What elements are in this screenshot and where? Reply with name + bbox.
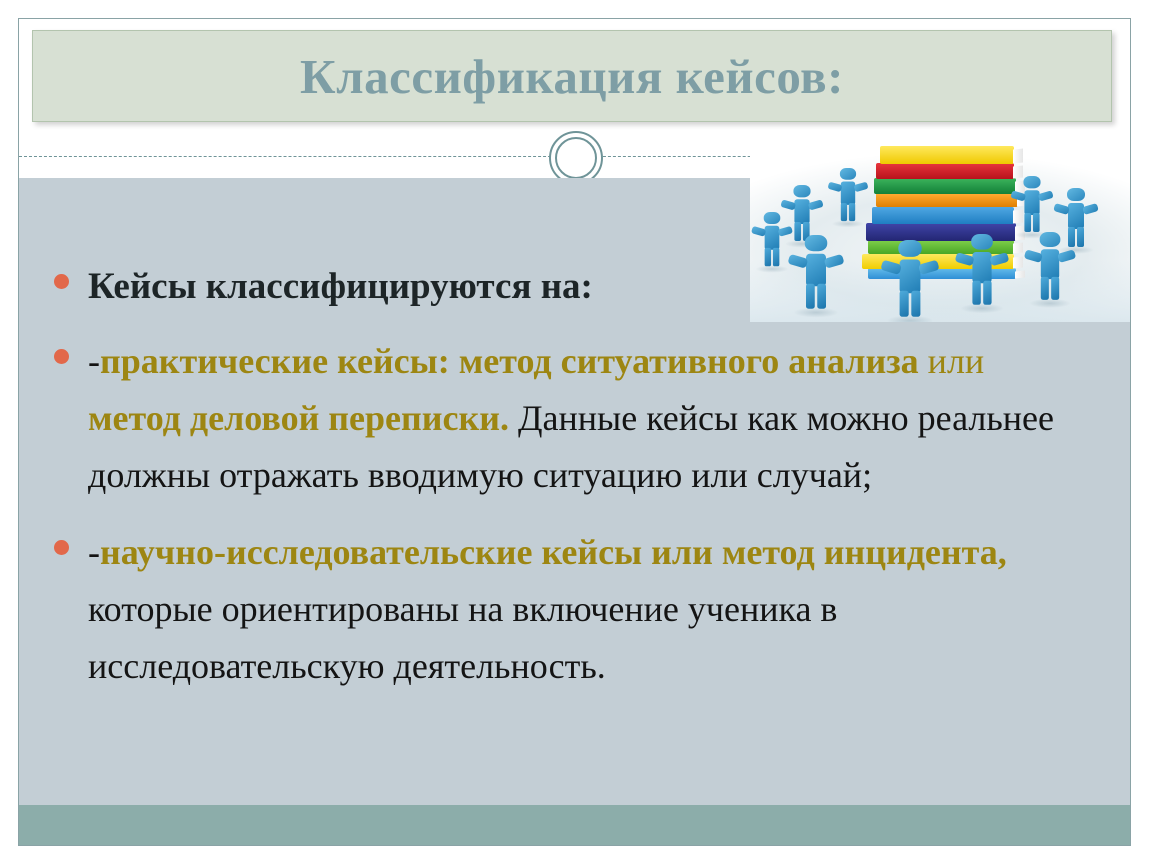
bullet-dot-icon (54, 274, 69, 289)
run-text: практические кейсы: метод ситуативного а… (100, 341, 928, 381)
run-text: метод деловой переписки. (88, 398, 518, 438)
bullet-text-practical-cases: -практические кейсы: метод ситуативного … (88, 333, 1082, 504)
book-5-icon (872, 207, 1014, 224)
book-4-icon (876, 193, 1018, 207)
spacer (42, 506, 1082, 524)
book-2-icon (876, 163, 1014, 179)
page-title: Классификация кейсов: (300, 52, 844, 101)
decorative-ring-inner-icon (555, 137, 597, 179)
bullet-dot-icon (54, 349, 69, 364)
list-item: -научно-исследовательские кейсы или мето… (42, 524, 1082, 695)
list-item: -практические кейсы: метод ситуативного … (42, 333, 1082, 504)
run-text: - (88, 341, 100, 381)
book-1-icon (880, 146, 1014, 164)
footer-bar (19, 805, 1130, 845)
title-placeholder: Классификация кейсов: (32, 30, 1112, 122)
run-text: или (928, 341, 985, 381)
slide-canvas: Классификация кейсов: (0, 0, 1150, 864)
body-content: Кейсы классифицируются на: -практические… (42, 258, 1082, 697)
run-text: - (88, 532, 100, 572)
spacer (42, 317, 1082, 333)
book-3-icon (874, 178, 1016, 194)
bullet-dot-icon (54, 540, 69, 555)
book-6-icon (866, 223, 1016, 241)
run-text: которые ориентированы на включение учени… (88, 589, 837, 686)
bullet-text-intro: Кейсы классифицируются на: (88, 258, 1082, 315)
run-text: Кейсы классифицируются на: (88, 266, 593, 307)
list-item: Кейсы классифицируются на: (42, 258, 1082, 315)
bullet-text-research-cases: -научно-исследовательские кейсы или мето… (88, 524, 1082, 695)
run-text: научно-исследовательские кейсы или метод… (100, 532, 1007, 572)
